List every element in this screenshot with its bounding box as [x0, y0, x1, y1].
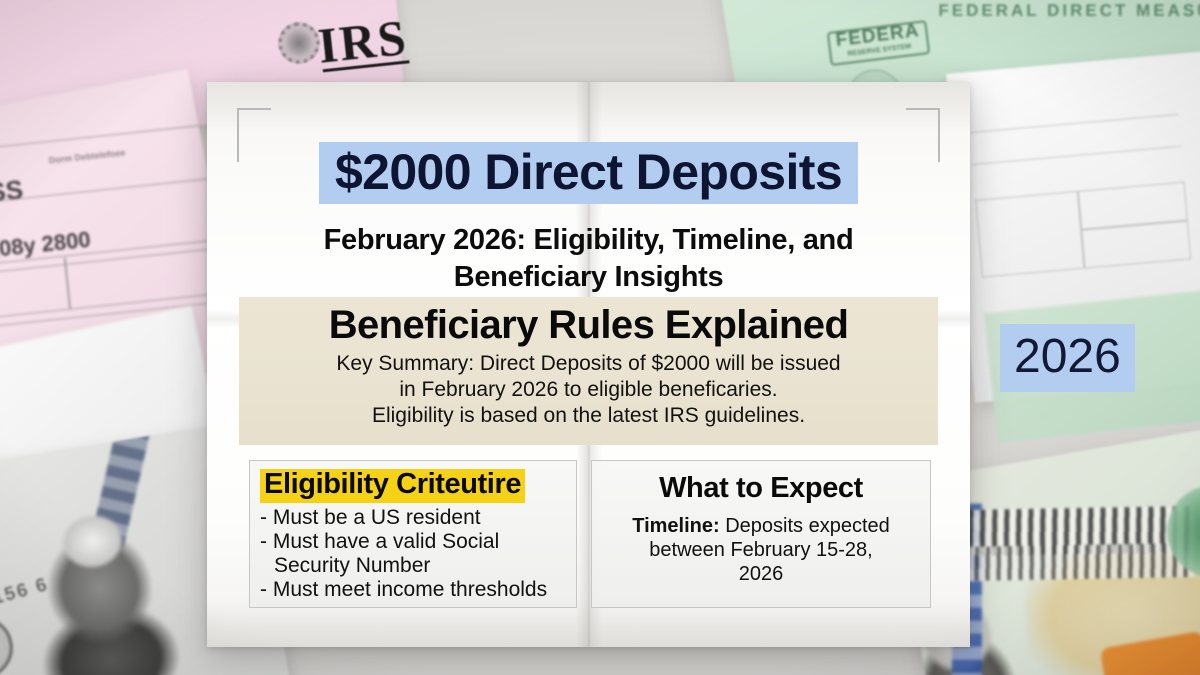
what-to-expect-heading: What to Expect — [602, 473, 920, 505]
page-title: $2000 Direct Deposits — [319, 142, 858, 204]
list-item: - Must have a valid Social — [260, 530, 566, 554]
form-text-2: NTIRENSS — [0, 174, 25, 219]
card-top-fold — [207, 82, 970, 134]
year-badge: 2026 — [1000, 324, 1135, 392]
bill-usa-text-2 — [964, 543, 1195, 581]
corner-bracket-top-right — [906, 108, 940, 162]
irs-logo: IRS — [315, 7, 410, 74]
eligibility-panel: Eligibility Criteutire - Must be a US re… — [249, 460, 577, 608]
timeline-text-1: Deposits expected — [720, 515, 890, 537]
eligibility-heading: Eligibility Criteutire — [260, 469, 525, 503]
timeline-line-2: between February 15-28, — [602, 538, 920, 562]
subtitle-line-2: Beneficiary Insights — [251, 259, 926, 296]
timeline-line-3: 2026 — [602, 562, 920, 586]
infographic-card: $2000 Direct Deposits February 2026: Eli… — [207, 82, 970, 647]
check-logo: FEDERA RESERVE SYSTEM — [827, 20, 930, 66]
bill-seal-icon — [0, 612, 17, 675]
list-item: Security Number — [260, 554, 566, 578]
what-to-expect-panel: What to Expect Timeline: Deposits expect… — [591, 460, 931, 608]
timeline-line-1: Timeline: Deposits expected — [602, 514, 920, 538]
bottom-panels: Eligibility Criteutire - Must be a US re… — [249, 460, 928, 608]
eligibility-bullets: - Must be a US resident - Must have a va… — [260, 506, 566, 602]
band-body: Key Summary: Direct Deposits of $2000 wi… — [239, 351, 938, 429]
band-body-line-1: Key Summary: Direct Deposits of $2000 wi… — [239, 351, 938, 377]
form-text-small: Dorm Debtelefoee — [48, 147, 126, 165]
band-heading: Beneficiary Rules Explained — [239, 303, 938, 347]
corner-bracket-top-left — [237, 108, 271, 162]
band-body-line-3: Eligibility is based on the latest IRS g… — [239, 403, 938, 429]
what-to-expect-body: Timeline: Deposits expected between Febr… — [602, 514, 920, 586]
band-body-line-2: in February 2026 to eligible beneficarie… — [239, 377, 938, 403]
list-item: - Must be a US resident — [260, 506, 566, 530]
page-subtitle: February 2026: Eligibility, Timeline, an… — [251, 222, 926, 295]
beneficiary-rules-band: Beneficiary Rules Explained Key Summary:… — [239, 297, 938, 445]
photo-scene: IRS Tax 1041 CX NTIRENSS Dorm Debtelefoe… — [0, 0, 1200, 675]
check-text-1: FEDERAL DIRECT MEASURANCY — [938, 1, 1200, 21]
timeline-label: Timeline: — [632, 515, 719, 537]
list-item: - Must meet income thresholds — [260, 578, 566, 602]
title-row: $2000 Direct Deposits — [207, 142, 970, 204]
subtitle-line-1: February 2026: Eligibility, Timeline, an… — [251, 222, 926, 259]
